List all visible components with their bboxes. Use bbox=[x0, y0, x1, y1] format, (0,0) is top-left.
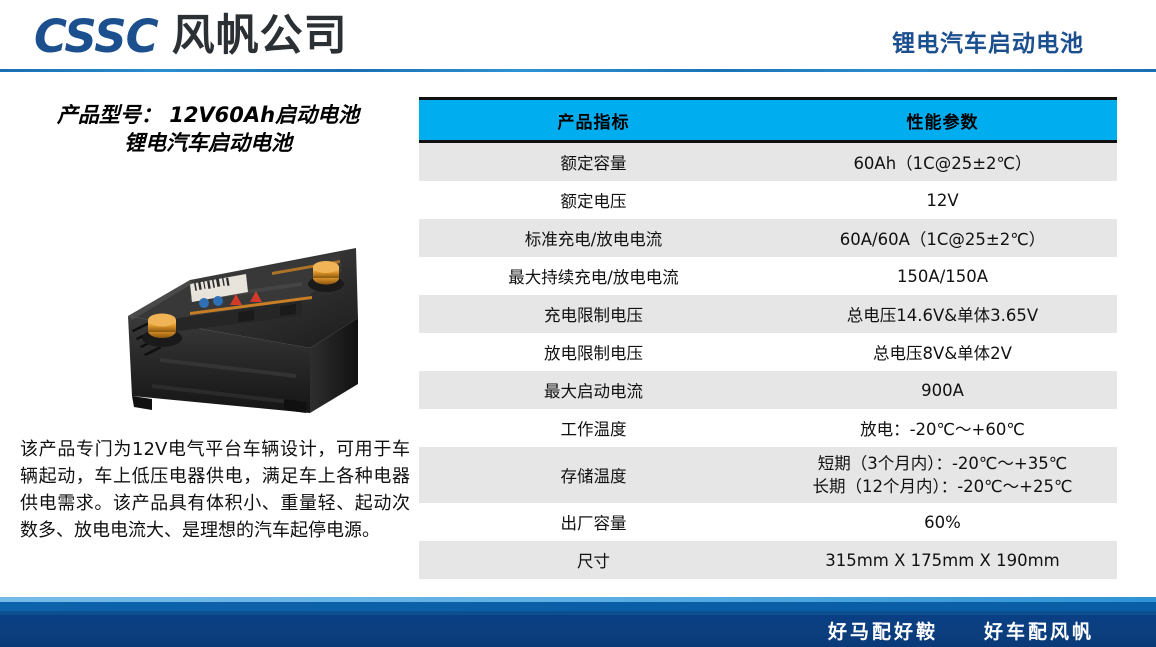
cell-indicator: 存储温度 bbox=[419, 447, 768, 503]
table-row: 出厂容量 60% bbox=[419, 503, 1117, 541]
footer-band-mid bbox=[0, 602, 1156, 611]
cell-indicator: 额定容量 bbox=[419, 142, 768, 182]
cell-value: 60% bbox=[768, 503, 1117, 541]
header-divider bbox=[0, 69, 1156, 72]
cell-indicator: 放电限制电压 bbox=[419, 333, 768, 371]
cell-indicator: 最大持续充电/放电电流 bbox=[419, 257, 768, 295]
cell-value: 150A/150A bbox=[768, 257, 1117, 295]
cell-value-line1: 短期（3个月内）：-20℃～+35℃ bbox=[769, 452, 1116, 475]
logo-chinese-text: 风帆公司 bbox=[172, 15, 348, 58]
cell-indicator: 出厂容量 bbox=[419, 503, 768, 541]
left-panel: 产品型号： 12V60Ah启动电池 锂电汽车启动电池 bbox=[0, 78, 415, 588]
logo-latin-text: CSSC bbox=[34, 14, 158, 59]
product-model-line1: 产品型号： 12V60Ah启动电池 bbox=[57, 103, 359, 127]
cell-indicator: 额定电压 bbox=[419, 181, 768, 219]
cell-indicator: 尺寸 bbox=[419, 541, 768, 579]
table-row: 额定容量 60Ah（1C@25±2℃） bbox=[419, 142, 1117, 182]
table-row: 放电限制电压 总电压8V&单体2V bbox=[419, 333, 1117, 371]
table-row: 标准充电/放电电流 60A/60A（1C@25±2℃） bbox=[419, 219, 1117, 257]
table-row: 工作温度 放电：-20℃～+60℃ bbox=[419, 409, 1117, 447]
table-row: 最大持续充电/放电电流 150A/150A bbox=[419, 257, 1117, 295]
page-title: 锂电汽车启动电池 bbox=[892, 24, 1084, 58]
product-description: 该产品专门为12V电气平台车辆设计，可用于车辆起动，车上低压电器供电，满足车上各… bbox=[20, 436, 410, 544]
product-model-line2: 锂电汽车启动电池 bbox=[8, 130, 408, 158]
cell-value: 放电：-20℃～+60℃ bbox=[768, 409, 1117, 447]
table-row: 额定电压 12V bbox=[419, 181, 1117, 219]
table-row: 存储温度 短期（3个月内）：-20℃～+35℃ 长期（12个月内）：-20℃～+… bbox=[419, 447, 1117, 503]
cell-value: 900A bbox=[768, 371, 1117, 409]
cell-indicator: 最大启动电流 bbox=[419, 371, 768, 409]
footer-slogan-right: 好车配风帆 bbox=[984, 617, 1094, 644]
footer-slogans: 好马配好鞍 好车配风帆 bbox=[828, 617, 1094, 644]
cell-value: 12V bbox=[768, 181, 1117, 219]
table-body: 额定容量 60Ah（1C@25±2℃） 额定电压 12V 标准充电/放电电流 6… bbox=[419, 142, 1117, 637]
cell-indicator: 标准充电/放电电流 bbox=[419, 219, 768, 257]
battery-illustration bbox=[40, 188, 380, 418]
cell-indicator: 充电限制电压 bbox=[419, 295, 768, 333]
cell-value: 总电压8V&单体2V bbox=[768, 333, 1117, 371]
product-photo bbox=[40, 188, 380, 418]
cell-indicator: 工作温度 bbox=[419, 409, 768, 447]
cell-value: 短期（3个月内）：-20℃～+35℃ 长期（12个月内）：-20℃～+25℃ bbox=[768, 447, 1117, 503]
column-header-indicator: 产品指标 bbox=[419, 99, 768, 142]
column-header-value: 性能参数 bbox=[768, 99, 1117, 142]
table-row: 尺寸 315mm X 175mm X 190mm bbox=[419, 541, 1117, 579]
cell-value: 总电压14.6V&单体3.65V bbox=[768, 295, 1117, 333]
page-footer: 好马配好鞍 好车配风帆 bbox=[0, 597, 1156, 647]
table-header-row: 产品指标 性能参数 bbox=[419, 99, 1117, 142]
cell-value-line2: 长期（12个月内）：-20℃～+25℃ bbox=[769, 475, 1116, 498]
table-row: 充电限制电压 总电压14.6V&单体3.65V bbox=[419, 295, 1117, 333]
footer-slogan-left: 好马配好鞍 bbox=[828, 617, 938, 644]
cell-value: 60Ah（1C@25±2℃） bbox=[768, 142, 1117, 182]
specification-table: 产品指标 性能参数 额定容量 60Ah（1C@25±2℃） 额定电压 12V 标… bbox=[419, 97, 1117, 638]
company-logo: CSSC 风帆公司 bbox=[34, 14, 348, 59]
cell-value: 60A/60A（1C@25±2℃） bbox=[768, 219, 1117, 257]
cell-value: 315mm X 175mm X 190mm bbox=[768, 541, 1117, 579]
table-row: 最大启动电流 900A bbox=[419, 371, 1117, 409]
product-model-title: 产品型号： 12V60Ah启动电池 锂电汽车启动电池 bbox=[8, 102, 408, 157]
page-header: CSSC 风帆公司 锂电汽车启动电池 bbox=[0, 0, 1156, 72]
